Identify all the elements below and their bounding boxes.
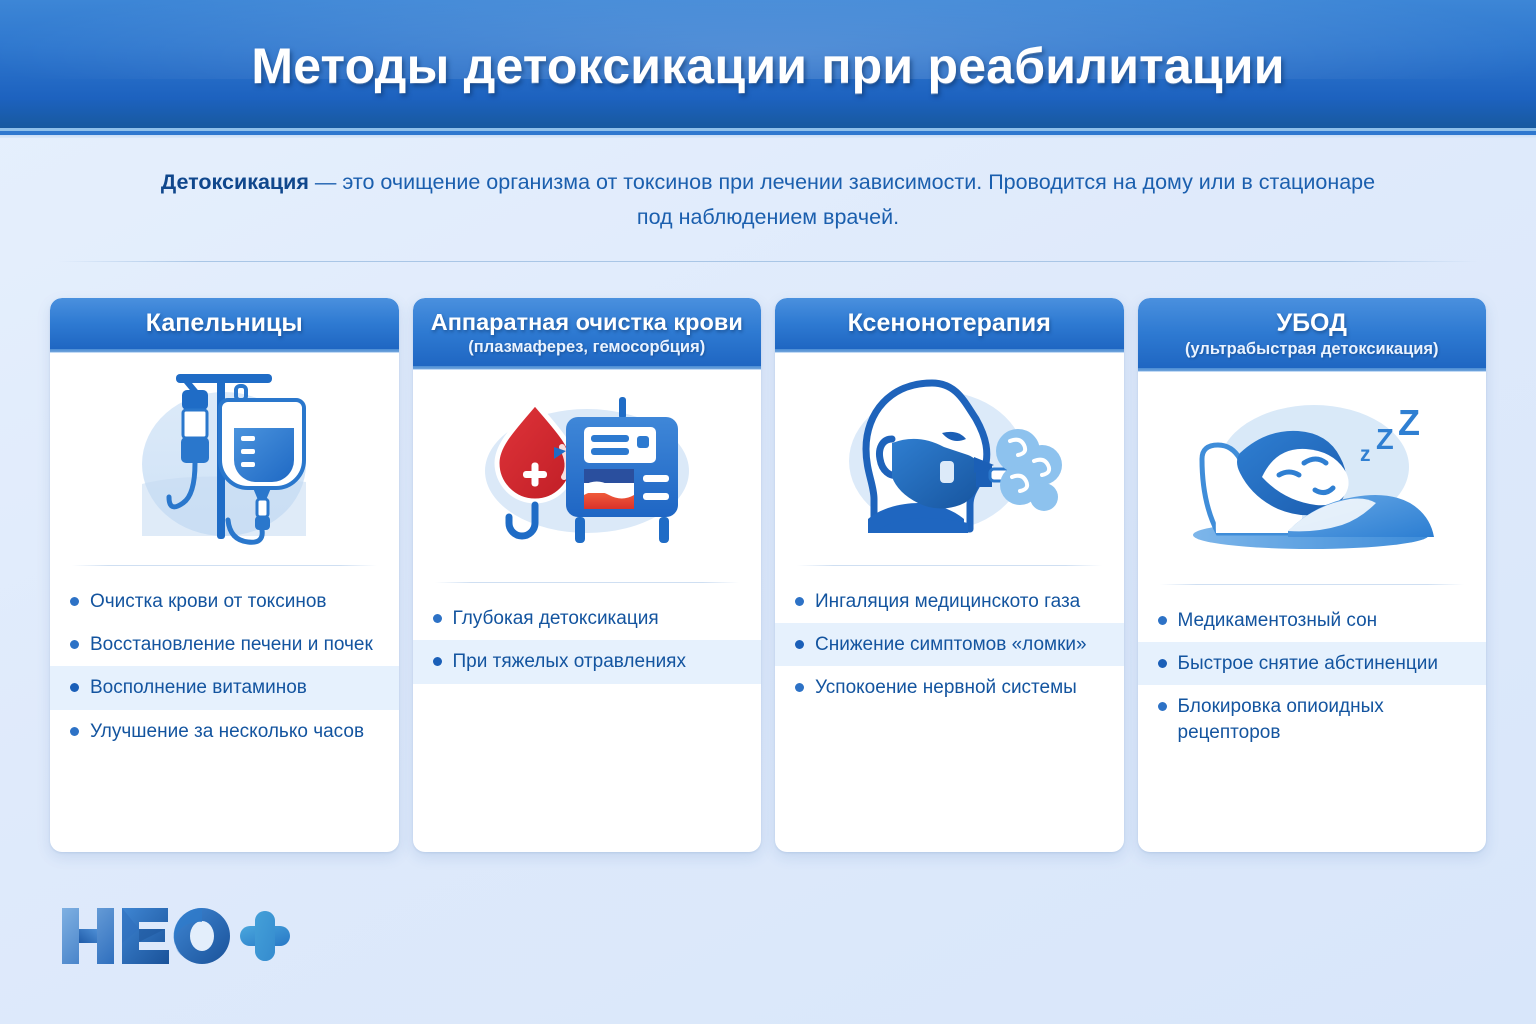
card-xenon-bullets: Ингаляция медицинското газа Снижение сим…	[775, 566, 1124, 852]
list-item-label: Снижение симптомов «ломки»	[815, 632, 1087, 657]
list-item-label: Медикаментозный сон	[1178, 608, 1378, 633]
bullet-dot-icon	[70, 683, 79, 692]
list-item[interactable]: Снижение симптомов «ломки»	[775, 623, 1124, 666]
bullet-dot-icon	[1158, 616, 1167, 625]
page-header: Методы детоксикации при реабилитации	[0, 0, 1536, 131]
card-ubod-bullets: Медикаментозный сон Быстрое снятие абсти…	[1138, 585, 1487, 852]
card-drip-title: Капельницы	[62, 309, 387, 338]
card-apparatus[interactable]: Аппаратная очистка крови (плазмаферез, г…	[413, 298, 762, 852]
card-apparatus-header: Аппаратная очистка крови (плазмаферез, г…	[413, 298, 762, 366]
list-item[interactable]: Медикаментозный сон	[1138, 599, 1487, 642]
gas-mask-head-icon	[832, 369, 1067, 549]
bullet-dot-icon	[70, 640, 79, 649]
intro-lead-word: Детоксикация	[161, 170, 309, 194]
card-drip-icon-area	[50, 353, 399, 565]
card-xenon-icon-area	[775, 353, 1124, 565]
bullet-dot-icon	[795, 597, 804, 606]
bullet-dot-icon	[795, 640, 804, 649]
card-drip-bullets: Очистка крови от токсинов Восстановление…	[50, 566, 399, 852]
card-xenon-title: Ксенонотерапия	[787, 309, 1112, 338]
bullet-dot-icon	[70, 597, 79, 606]
section-divider	[58, 261, 1478, 262]
header-underline	[0, 131, 1536, 138]
card-apparatus-subtitle: (плазмаферез, гемосорбция)	[425, 338, 750, 357]
card-ubod-icon-area: z Z Z	[1138, 372, 1487, 584]
bullet-dot-icon	[795, 683, 804, 692]
list-item-label: Блокировка опиоидных рецепторов	[1178, 694, 1469, 745]
card-drip-header: Капельницы	[50, 298, 399, 349]
bullet-dot-icon	[1158, 702, 1167, 711]
card-apparatus-title: Аппаратная очистка крови	[425, 309, 750, 336]
list-item-label: Восстановление печени и почек	[90, 632, 373, 657]
blood-drop-machine-icon	[467, 389, 707, 564]
page-title: Методы детоксикации при реабилитации	[251, 37, 1284, 95]
iv-drip-icon	[124, 366, 324, 551]
list-item[interactable]: Глубокая детоксикация	[413, 597, 762, 640]
svg-text:z: z	[1360, 443, 1371, 466]
list-item-label: Восполнение витаминов	[90, 675, 307, 700]
list-item[interactable]: Ингаляция медицинското газа	[775, 580, 1124, 623]
svg-text:Z: Z	[1376, 424, 1394, 456]
card-apparatus-bullets: Глубокая детоксикация При тяжелых отравл…	[413, 583, 762, 852]
list-item[interactable]: Блокировка опиоидных рецепторов	[1138, 685, 1487, 754]
bullet-dot-icon	[1158, 659, 1167, 668]
list-item-label: Улучшение за несколько часов	[90, 719, 364, 744]
card-ubod-subtitle: (ультрабыстрая детоксикация)	[1150, 340, 1475, 359]
list-item-label: При тяжелых отравлениях	[453, 649, 686, 674]
intro-paragraph: Детоксикация — это очищение организма от…	[160, 165, 1376, 235]
card-xenon-header: Ксенонотерапия	[775, 298, 1124, 349]
list-item-label: Успокоение нервной системы	[815, 675, 1077, 700]
list-item-label: Быстрое снятие абстиненции	[1178, 651, 1438, 676]
list-item[interactable]: Восстановление печени и почек	[50, 623, 399, 666]
list-item-label: Очистка крови от токсинов	[90, 589, 326, 614]
intro-rest-text: — это очищение организма от токсинов при…	[309, 170, 1375, 229]
method-cards-row: Капельницы	[50, 298, 1486, 852]
list-item-label: Ингаляция медицинското газа	[815, 589, 1080, 614]
list-item-label: Глубокая детоксикация	[453, 606, 659, 631]
card-drip[interactable]: Капельницы	[50, 298, 399, 852]
card-apparatus-icon-area	[413, 370, 762, 582]
sleeping-patient-icon: z Z Z	[1184, 395, 1439, 560]
card-ubod-title: УБОД	[1150, 309, 1475, 338]
bullet-dot-icon	[433, 614, 442, 623]
neo-plus-logo[interactable]	[56, 900, 296, 972]
card-ubod-header: УБОД (ультрабыстрая детоксикация)	[1138, 298, 1487, 368]
list-item[interactable]: Восполнение витаминов	[50, 666, 399, 709]
card-ubod[interactable]: УБОД (ультрабыстрая детоксикация)	[1138, 298, 1487, 852]
bullet-dot-icon	[433, 657, 442, 666]
list-item[interactable]: При тяжелых отравлениях	[413, 640, 762, 683]
card-xenon[interactable]: Ксенонотерапия	[775, 298, 1124, 852]
bullet-dot-icon	[70, 727, 79, 736]
list-item[interactable]: Успокоение нервной системы	[775, 666, 1124, 709]
list-item[interactable]: Улучшение за несколько часов	[50, 710, 399, 753]
intro-block: Детоксикация — это очищение организма от…	[0, 131, 1536, 235]
list-item[interactable]: Быстрое снятие абстиненции	[1138, 642, 1487, 685]
svg-text:Z: Z	[1398, 402, 1420, 443]
list-item[interactable]: Очистка крови от токсинов	[50, 580, 399, 623]
